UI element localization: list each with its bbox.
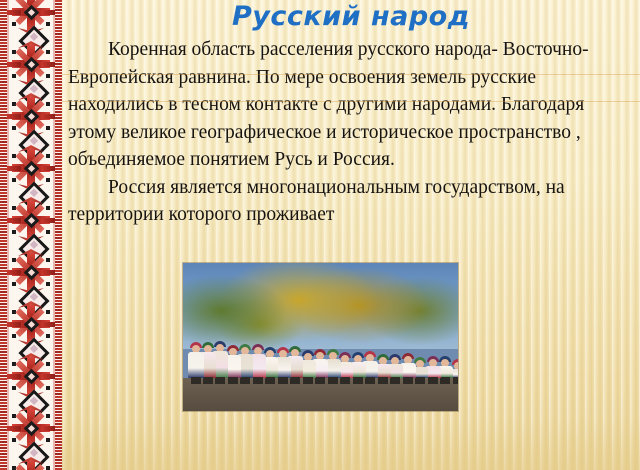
decor-hairline-1 — [62, 74, 640, 75]
motif-tick — [12, 22, 16, 26]
figure-legs — [278, 377, 288, 384]
figure-legs — [353, 377, 363, 384]
motif-tick — [46, 126, 50, 130]
figure-legs — [403, 377, 413, 384]
figure-legs — [265, 377, 275, 384]
body-text: Коренная область расселения русского нар… — [68, 36, 634, 229]
motif-tick — [46, 334, 50, 338]
border-edge-left — [0, 0, 7, 470]
border-motif-column — [8, 0, 54, 470]
motif-tick — [12, 438, 16, 442]
border-edge-right — [55, 0, 62, 470]
page-title: Русский народ — [62, 0, 640, 34]
paragraph-1: Коренная область расселения русского нар… — [68, 36, 634, 174]
folk-costume-photo — [183, 263, 458, 411]
figure-legs — [228, 377, 238, 384]
figure-legs — [215, 377, 225, 384]
figure-legs — [428, 377, 438, 384]
paragraph-2: Россия является многонациональным госуда… — [68, 174, 634, 229]
border-motif — [8, 454, 54, 470]
motif-tick — [12, 386, 16, 390]
figure-legs — [390, 377, 400, 384]
figure-legs — [240, 377, 250, 384]
decor-hairline-2 — [62, 101, 640, 102]
motif-tick — [46, 178, 50, 182]
motif-tick — [12, 74, 16, 78]
motif-tick — [46, 282, 50, 286]
bottom-gradient-band — [62, 418, 640, 470]
figure-legs — [315, 377, 325, 384]
motif-tick — [46, 386, 50, 390]
figure-legs — [290, 377, 300, 384]
photo-figure — [187, 345, 204, 384]
figure-legs — [203, 377, 213, 384]
slide: Русский народ Коренная область расселени… — [0, 0, 640, 470]
ornamental-border — [0, 0, 62, 470]
figure-costume — [188, 352, 204, 378]
figure-legs — [415, 377, 425, 384]
motif-tick — [46, 438, 50, 442]
figure-legs — [328, 377, 338, 384]
photo-crowd — [183, 319, 458, 384]
motif-tick — [12, 126, 16, 130]
motif-tick — [12, 282, 16, 286]
figure-legs — [191, 377, 201, 384]
motif-tick — [46, 22, 50, 26]
figure-legs — [378, 377, 388, 384]
motif-tick — [12, 334, 16, 338]
figure-legs — [340, 377, 350, 384]
figure-legs — [365, 377, 375, 384]
figure-legs — [253, 377, 263, 384]
figure-legs — [440, 377, 450, 384]
figure-legs — [303, 377, 313, 384]
motif-tick — [46, 230, 50, 234]
motif-tick — [12, 178, 16, 182]
motif-tick — [12, 230, 16, 234]
motif-tick — [46, 74, 50, 78]
